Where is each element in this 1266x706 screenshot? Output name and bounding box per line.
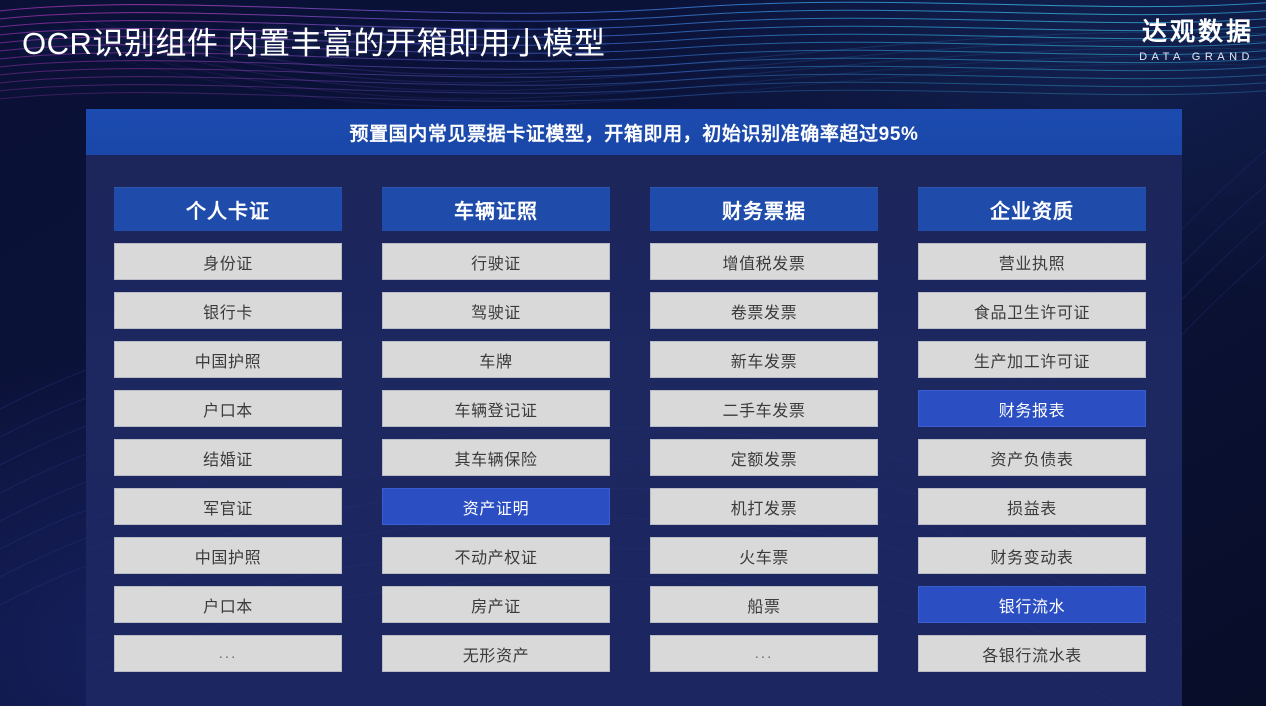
model-cell[interactable]: 结婚证 bbox=[114, 439, 342, 476]
category-column: 财务票据增值税发票卷票发票新车发票二手车发票定额发票机打发票火车票船票... bbox=[650, 187, 878, 672]
model-cell[interactable]: 机打发票 bbox=[650, 488, 878, 525]
model-cell-highlighted[interactable]: 资产证明 bbox=[382, 488, 610, 525]
category-header-3[interactable]: 企业资质 bbox=[918, 187, 1146, 231]
model-cell[interactable]: 银行卡 bbox=[114, 292, 342, 329]
model-cell[interactable]: 房产证 bbox=[382, 586, 610, 623]
category-header-0[interactable]: 个人卡证 bbox=[114, 187, 342, 231]
banner-text: 预置国内常见票据卡证模型，开箱即用，初始识别准确率超过95% bbox=[349, 119, 918, 146]
model-cell[interactable]: 财务变动表 bbox=[918, 537, 1146, 574]
category-column: 企业资质营业执照食品卫生许可证生产加工许可证财务报表资产负债表损益表财务变动表银… bbox=[918, 187, 1146, 672]
model-cell[interactable]: ... bbox=[650, 635, 878, 672]
content-panel: 预置国内常见票据卡证模型，开箱即用，初始识别准确率超过95% 个人卡证身份证银行… bbox=[86, 109, 1182, 706]
model-cell-highlighted[interactable]: 银行流水 bbox=[918, 586, 1146, 623]
slide-header: OCR识别组件 内置丰富的开箱即用小模型 达观数据 DATA GRAND bbox=[0, 0, 1266, 92]
model-cell[interactable]: 食品卫生许可证 bbox=[918, 292, 1146, 329]
category-column: 车辆证照行驶证驾驶证车牌车辆登记证其车辆保险资产证明不动产权证房产证无形资产 bbox=[382, 187, 610, 672]
model-cell[interactable]: 资产负债表 bbox=[918, 439, 1146, 476]
model-cell[interactable]: 损益表 bbox=[918, 488, 1146, 525]
model-cell[interactable]: ... bbox=[114, 635, 342, 672]
model-cell[interactable]: 户口本 bbox=[114, 390, 342, 427]
model-cell[interactable]: 定额发票 bbox=[650, 439, 878, 476]
model-cell[interactable]: 中国护照 bbox=[114, 341, 342, 378]
model-cell[interactable]: 行驶证 bbox=[382, 243, 610, 280]
model-cell[interactable]: 卷票发票 bbox=[650, 292, 878, 329]
model-cell[interactable]: 火车票 bbox=[650, 537, 878, 574]
category-column: 个人卡证身份证银行卡中国护照户口本结婚证军官证中国护照户口本... bbox=[114, 187, 342, 672]
model-cell[interactable]: 船票 bbox=[650, 586, 878, 623]
model-cell[interactable]: 军官证 bbox=[114, 488, 342, 525]
model-cell[interactable]: 身份证 bbox=[114, 243, 342, 280]
category-header-1[interactable]: 车辆证照 bbox=[382, 187, 610, 231]
model-cell[interactable]: 生产加工许可证 bbox=[918, 341, 1146, 378]
logo-english-text: DATA GRAND bbox=[1139, 49, 1254, 65]
model-cell[interactable]: 车牌 bbox=[382, 341, 610, 378]
model-cell[interactable]: 营业执照 bbox=[918, 243, 1146, 280]
banner: 预置国内常见票据卡证模型，开箱即用，初始识别准确率超过95% bbox=[86, 109, 1182, 155]
model-category-grid: 个人卡证身份证银行卡中国护照户口本结婚证军官证中国护照户口本...车辆证照行驶证… bbox=[114, 187, 1154, 672]
page-title: OCR识别组件 内置丰富的开箱即用小模型 bbox=[22, 24, 606, 64]
model-cell[interactable]: 新车发票 bbox=[650, 341, 878, 378]
model-cell[interactable]: 户口本 bbox=[114, 586, 342, 623]
model-cell[interactable]: 驾驶证 bbox=[382, 292, 610, 329]
model-cell[interactable]: 增值税发票 bbox=[650, 243, 878, 280]
slide-canvas: OCR识别组件 内置丰富的开箱即用小模型 达观数据 DATA GRAND bbox=[0, 0, 1266, 706]
brand-logo: 达观数据 DATA GRAND bbox=[1139, 17, 1254, 65]
model-cell[interactable]: 其车辆保险 bbox=[382, 439, 610, 476]
model-cell[interactable]: 车辆登记证 bbox=[382, 390, 610, 427]
model-cell[interactable]: 各银行流水表 bbox=[918, 635, 1146, 672]
model-cell[interactable]: 不动产权证 bbox=[382, 537, 610, 574]
model-cell[interactable]: 二手车发票 bbox=[650, 390, 878, 427]
model-cell[interactable]: 中国护照 bbox=[114, 537, 342, 574]
model-cell-highlighted[interactable]: 财务报表 bbox=[918, 390, 1146, 427]
category-header-2[interactable]: 财务票据 bbox=[650, 187, 878, 231]
model-cell[interactable]: 无形资产 bbox=[382, 635, 610, 672]
logo-chinese-text: 达观数据 bbox=[1139, 17, 1254, 47]
